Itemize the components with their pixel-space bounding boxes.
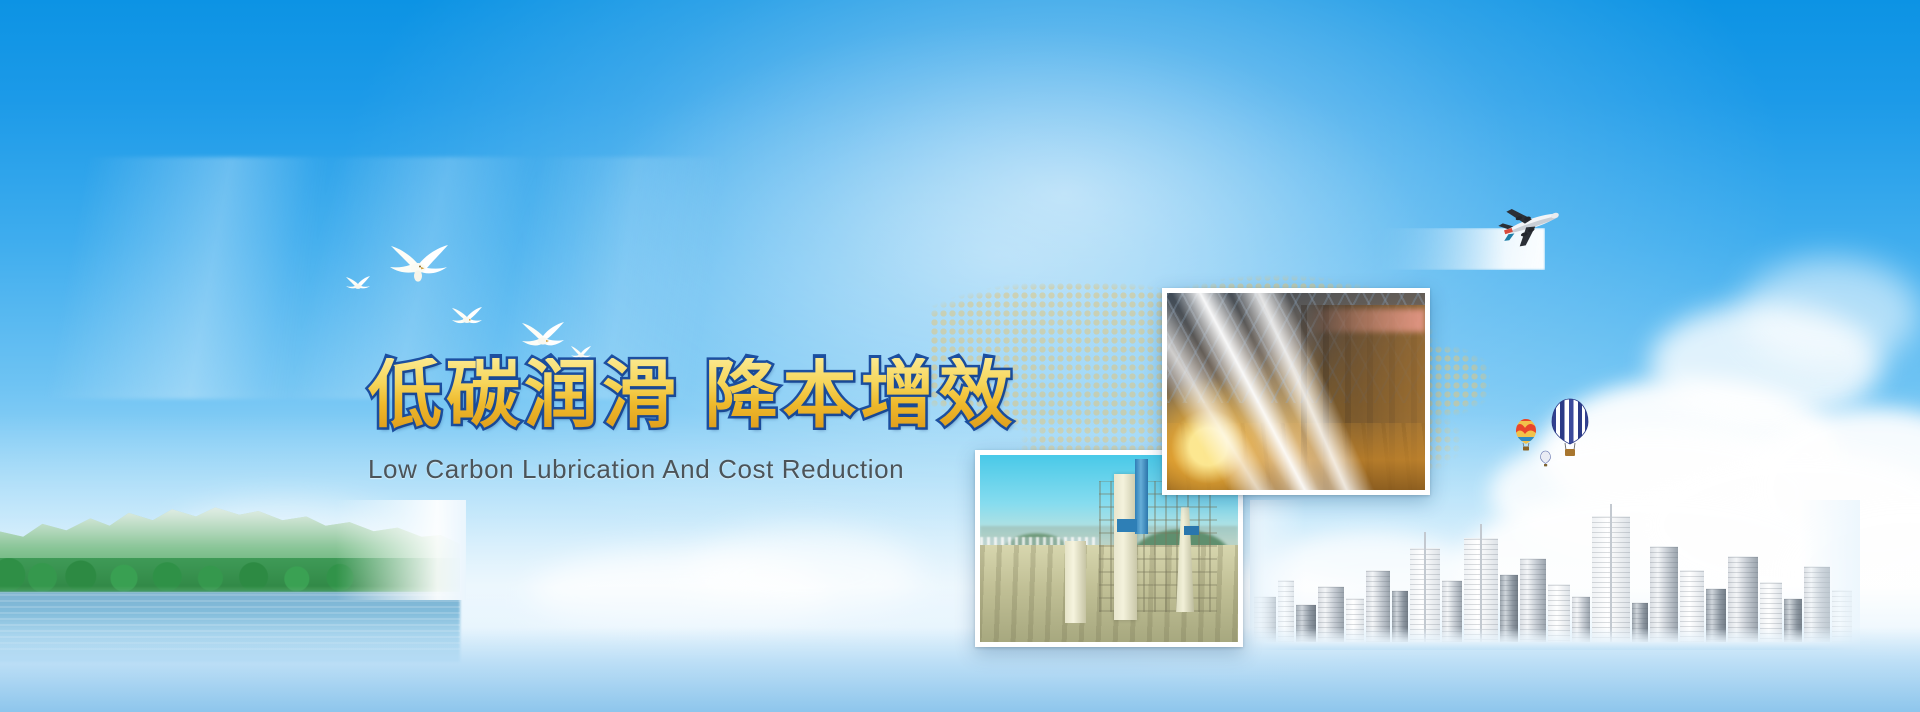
hot-air-balloon-small [1515, 418, 1537, 452]
photo-card-steel-mill[interactable] [1162, 288, 1430, 495]
water-surface [0, 627, 1920, 712]
banner-copy: 低碳润滑 降本增效 低碳润滑 降本增效 Low Carbon Lubricati… [368, 358, 1017, 485]
dove-icon-medium-b [520, 320, 566, 352]
dove-icon-medium-a [450, 305, 484, 329]
dove-icon-large [385, 240, 451, 286]
page-title: 低碳润滑 降本增效 [368, 358, 1017, 432]
hot-air-balloon-distant [1540, 450, 1551, 467]
headline-wrap: 低碳润滑 降本增效 低碳润滑 降本增效 [368, 358, 1017, 432]
dove-icon-small-a [345, 275, 371, 293]
hot-air-balloon-large [1550, 398, 1590, 460]
subtitle: Low Carbon Lubrication And Cost Reductio… [368, 454, 1017, 485]
hero-banner: 低碳润滑 降本增效 低碳润滑 降本增效 Low Carbon Lubricati… [0, 0, 1920, 712]
airplane-icon [1495, 198, 1565, 248]
